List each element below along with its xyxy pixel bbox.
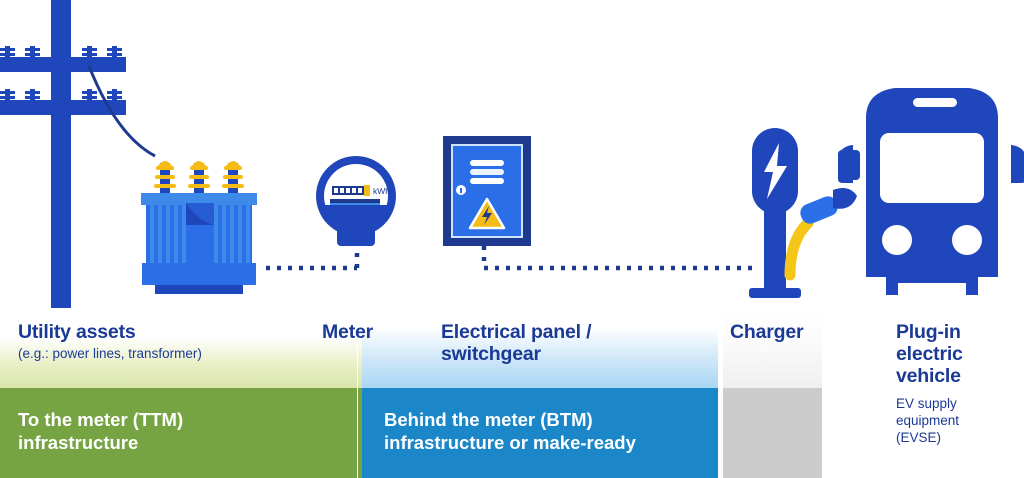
electric-meter-icon: kWh <box>316 156 396 246</box>
illustration-layer: kWh <box>0 0 1024 312</box>
label-plugin-electric-vehicle: Plug-in electric vehicle EV supply equip… <box>896 321 1016 446</box>
label-utility-subheading: (e.g.: power lines, transformer) <box>18 345 318 362</box>
destination-sign <box>913 98 957 107</box>
label-layer: Utility assets (e.g.: power lines, trans… <box>0 312 1024 478</box>
label-meter: Meter <box>322 321 412 343</box>
label-utility-assets: Utility assets (e.g.: power lines, trans… <box>18 321 318 362</box>
breaker-bars <box>470 160 504 184</box>
label-electrical-panel: Electrical panel / switchgear <box>441 321 691 365</box>
label-utility-heading: Utility assets <box>18 321 318 343</box>
windshield <box>880 133 984 203</box>
label-ev-heading-line1: Plug-in <box>896 321 1016 343</box>
headlight-left <box>882 225 912 255</box>
label-panel-heading-line1: Electrical panel / <box>441 321 691 343</box>
label-panel-heading-line2: switchgear <box>441 343 691 365</box>
band-label-ttm-line1: To the meter (TTM) <box>18 408 338 431</box>
headlight-right <box>952 225 982 255</box>
transformer-icon <box>141 161 257 294</box>
label-ev-heading-line2: electric <box>896 343 1016 365</box>
band-label-btm-line1: Behind the meter (BTM) <box>384 408 714 431</box>
label-charger-heading: Charger <box>730 321 840 343</box>
electrical-panel-icon <box>443 136 531 246</box>
connector-lines <box>266 246 753 268</box>
charging-cable <box>790 223 808 275</box>
label-charger: Charger <box>730 321 840 343</box>
lock-icon <box>456 185 466 195</box>
band-label-btm: Behind the meter (BTM) infrastructure or… <box>384 408 714 454</box>
label-ev-sub-line1: EV supply <box>896 395 1016 412</box>
meter-unit-label: kWh <box>373 186 390 196</box>
utility-pole-icon <box>0 0 126 308</box>
electric-bus-icon <box>838 88 1024 295</box>
charging-connector-icon <box>798 188 857 226</box>
label-ev-sub-line3: (EVSE) <box>896 429 1016 446</box>
label-ev-sub-line2: equipment <box>896 412 1016 429</box>
meter-register <box>332 185 370 196</box>
band-label-ttm: To the meter (TTM) infrastructure <box>18 408 338 454</box>
label-meter-heading: Meter <box>322 321 412 343</box>
band-label-ttm-line2: infrastructure <box>18 431 338 454</box>
label-ev-heading-line3: vehicle <box>896 365 1016 387</box>
band-label-btm-line2: infrastructure or make-ready <box>384 431 714 454</box>
infographic-root: kWh <box>0 0 1024 478</box>
